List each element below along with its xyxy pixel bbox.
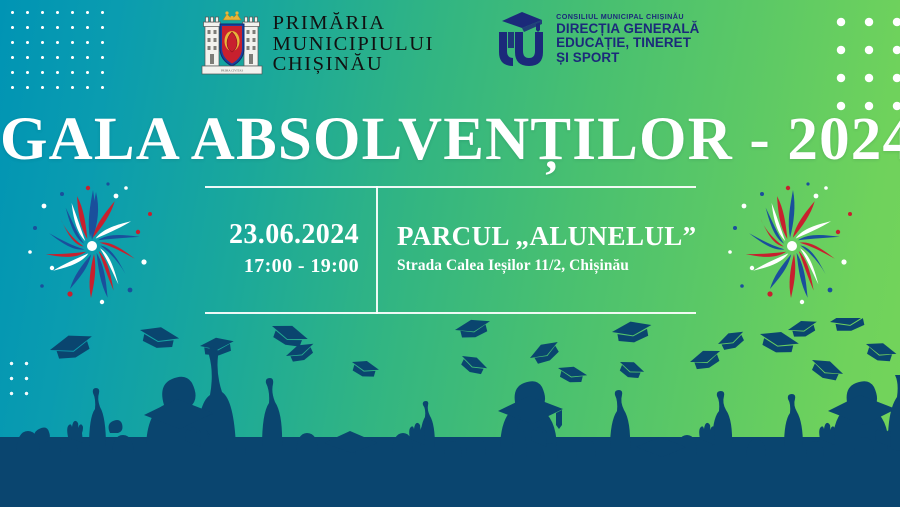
logo-directia-generala-educatie: CONSILIUL MUNICIPAL CHIȘINĂU DIRECȚIA GE… (492, 8, 699, 70)
event-date-block: 23.06.2024 17:00 - 19:00 (205, 219, 376, 280)
firework-burst-right-icon (722, 178, 862, 314)
chisinau-city-hall-coat-of-arms-icon: PRIMA CIVITAS (201, 8, 263, 80)
logo-primaria-line1: PRIMĂRIA (273, 13, 435, 34)
logo-dget-text: CONSILIUL MUNICIPAL CHIȘINĂU DIRECȚIA GE… (556, 13, 699, 65)
event-time: 17:00 - 19:00 (205, 251, 359, 281)
event-venue: PARCUL „ALUNELUL” (397, 221, 696, 252)
event-details-band: 23.06.2024 17:00 - 19:00 PARCUL „ALUNELU… (205, 186, 696, 314)
logo-bar: PRIMA CIVITAS PRIMĂRIA MUNICIPIULUI CHIȘ… (0, 8, 900, 80)
event-venue-block: PARCUL „ALUNELUL” Strada Calea Ieșilor 1… (376, 221, 696, 280)
firework-burst-left-icon (22, 178, 162, 314)
logo-primaria-line2: MUNICIPIULUI (273, 34, 435, 55)
graduates-crowd-silhouette-icon (0, 307, 900, 507)
logo-primaria-line3: CHIȘINĂU (273, 54, 435, 75)
logo-dget-line3: ȘI SPORT (556, 51, 699, 65)
poster-title: GALA ABSOLVENȚILOR - 2024 (0, 109, 900, 170)
logo-dget-line1: DIRECȚIA GENERALĂ (556, 22, 699, 36)
logo-primaria-text: PRIMĂRIA MUNICIPIULUI CHIȘINĂU (273, 13, 435, 76)
svg-text:PRIMA CIVITAS: PRIMA CIVITAS (220, 69, 243, 73)
event-date: 23.06.2024 (205, 219, 359, 250)
dget-graduation-monogram-icon (492, 8, 548, 70)
logo-dget-line2: EDUCAȚIE, TINERET (556, 36, 699, 50)
event-poster: PRIMA CIVITAS PRIMĂRIA MUNICIPIULUI CHIȘ… (0, 0, 900, 507)
event-address: Strada Calea Ieșilor 11/2, Chișinău (397, 252, 696, 280)
logo-primaria-municipiului-chisinau: PRIMA CIVITAS PRIMĂRIA MUNICIPIULUI CHIȘ… (201, 8, 435, 80)
logo-dget-superline: CONSILIUL MUNICIPAL CHIȘINĂU (556, 13, 699, 21)
